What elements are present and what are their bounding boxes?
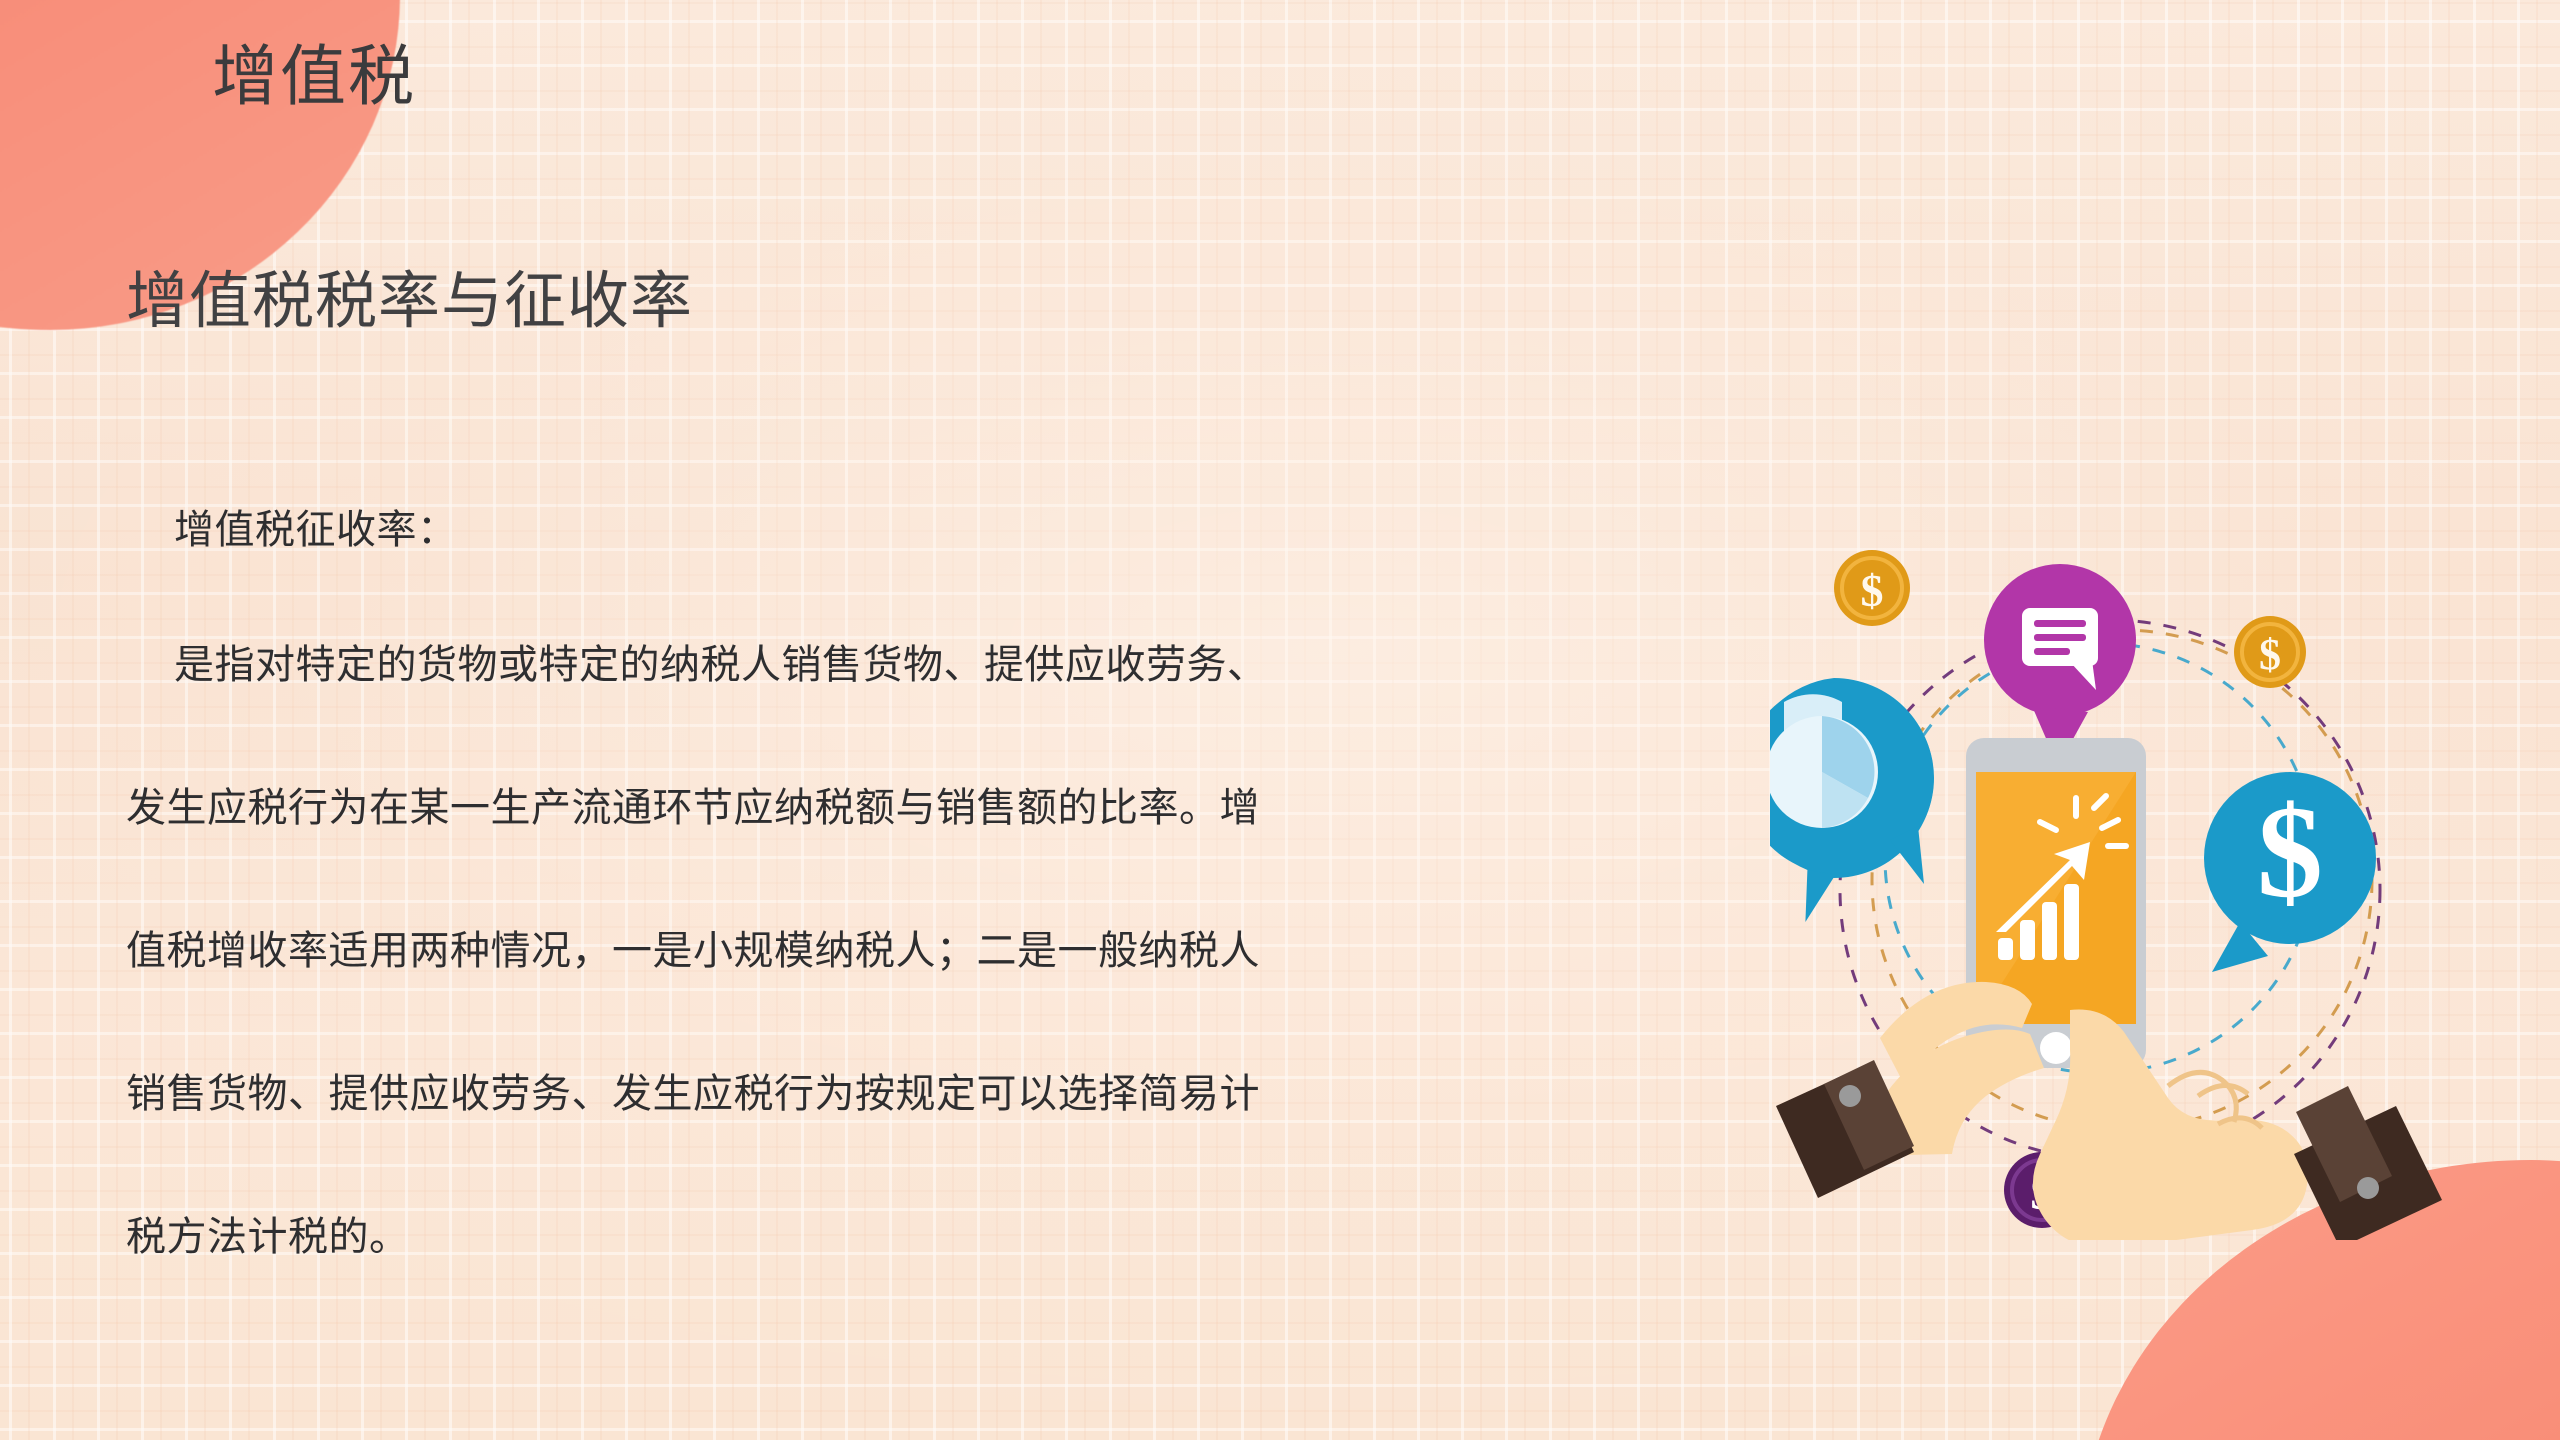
- line-gap: [126, 550, 1556, 645]
- body-line-3: 发生应税行为在某一生产流通环节应纳税额与销售额的比率。增: [126, 788, 1556, 828]
- line-gap: [126, 685, 1556, 788]
- slide-canvas: 增值税 增值税税率与征收率 增值税征收率： 是指对特定的货物或特定的纳税人销售货…: [0, 0, 2560, 1440]
- line-gap: [126, 1114, 1556, 1217]
- body-text-block: 增值税征收率： 是指对特定的货物或特定的纳税人销售货物、提供应收劳务、 发生应税…: [126, 510, 1556, 1257]
- body-line-5: 销售货物、提供应收劳务、发生应税行为按规定可以选择简易计: [126, 1074, 1556, 1114]
- body-line-2: 是指对特定的货物或特定的纳税人销售货物、提供应收劳务、: [126, 645, 1556, 685]
- svg-text:$: $: [2257, 778, 2323, 925]
- body-line-1: 增值税征收率：: [126, 510, 1556, 550]
- line-gap: [126, 971, 1556, 1074]
- line-gap: [126, 828, 1556, 931]
- left-hand: [1776, 982, 2044, 1198]
- body-line-6: 税方法计税的。: [126, 1217, 1556, 1257]
- bubble-pie-chart-icon: [1770, 678, 1934, 922]
- page-title: 增值税: [212, 38, 416, 115]
- bubble-chat-icon: [1984, 564, 2136, 766]
- right-hand: [2033, 1009, 2442, 1240]
- body-line-4: 值税增收率适用两种情况，一是小规模纳税人；二是一般纳税人: [126, 931, 1556, 971]
- bubble-dollar-icon: $: [2204, 772, 2376, 972]
- coin-top-right-icon: $: [2234, 616, 2306, 688]
- mobile-finance-illustration: $ $ $: [1770, 540, 2450, 1240]
- coin-top-left-icon: $: [1834, 550, 1910, 626]
- svg-text:$: $: [2259, 630, 2281, 679]
- section-heading: 增值税税率与征收率: [126, 265, 693, 339]
- svg-text:$: $: [1861, 565, 1884, 616]
